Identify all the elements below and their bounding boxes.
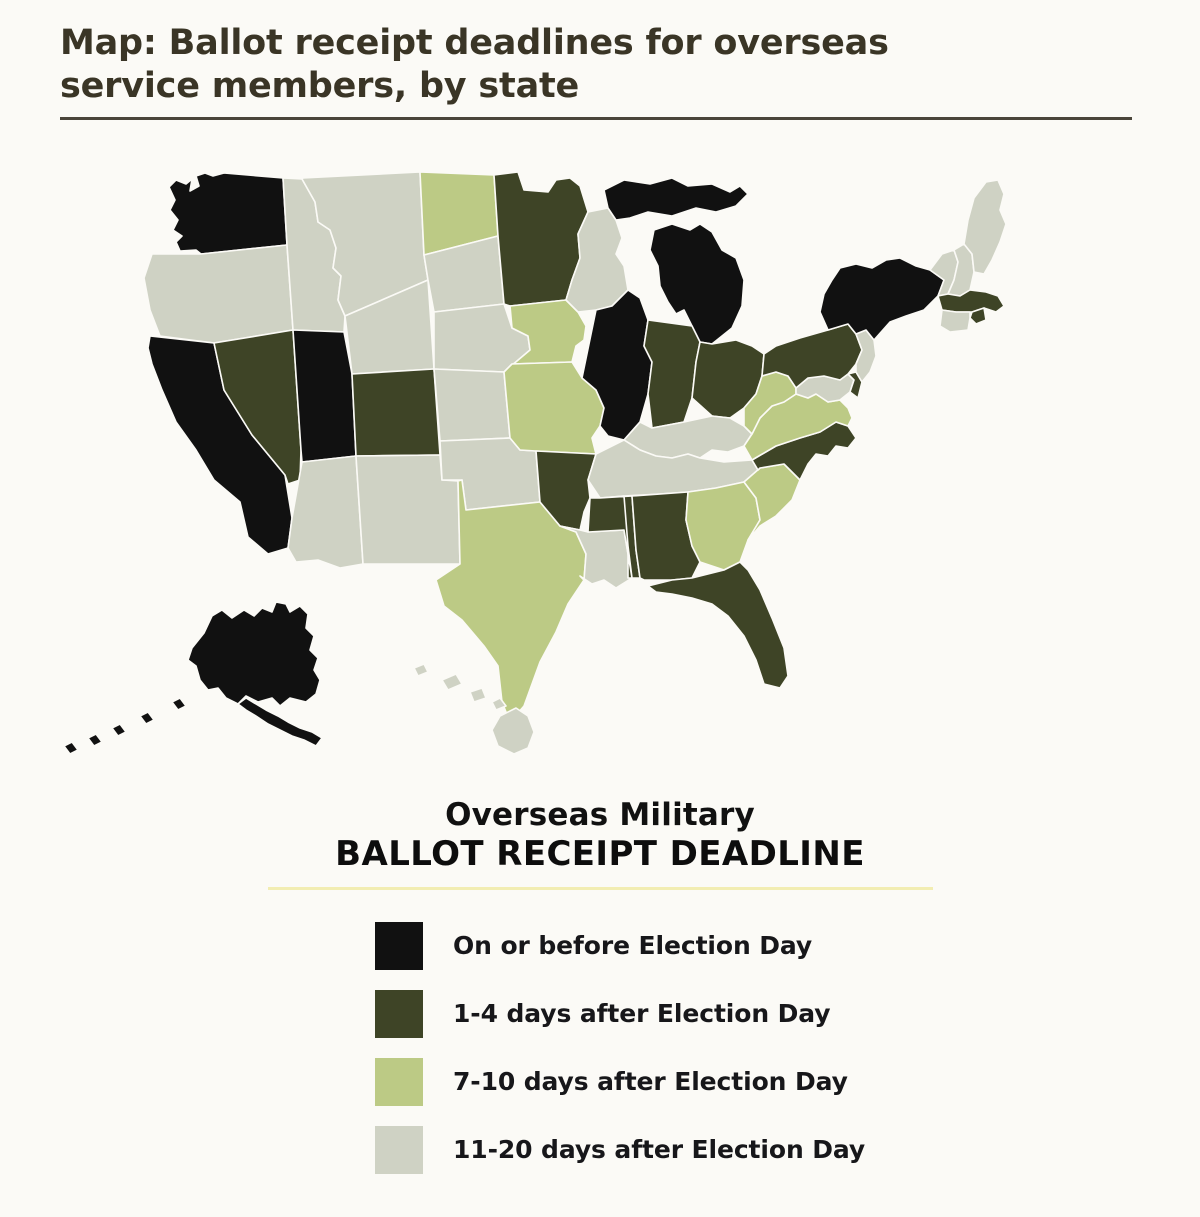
legend-item-label: On or before Election Day xyxy=(453,931,812,960)
state-FL[interactable] xyxy=(648,562,788,688)
state-AK[interactable] xyxy=(64,602,322,754)
legend-item[interactable]: On or before Election Day xyxy=(0,912,1200,980)
legend-color-swatch xyxy=(375,922,423,970)
us-map-svg xyxy=(0,150,1200,790)
legend-title-line-2: BALLOT RECEIPT DEADLINE xyxy=(0,835,1200,873)
state-GA[interactable] xyxy=(686,482,760,570)
legend-color-swatch xyxy=(375,1126,423,1174)
legend-color-swatch xyxy=(375,990,423,1038)
legend-item[interactable]: 1-4 days after Election Day xyxy=(0,980,1200,1048)
legend-color-swatch xyxy=(375,1058,423,1106)
map-legend: Overseas Military BALLOT RECEIPT DEADLIN… xyxy=(0,798,1200,1184)
state-CO[interactable] xyxy=(352,369,440,456)
legend-title-line-1: Overseas Military xyxy=(0,798,1200,833)
state-KS[interactable] xyxy=(434,369,510,441)
legend-item-list: On or before Election Day1-4 days after … xyxy=(0,912,1200,1184)
legend-divider xyxy=(268,887,933,890)
state-CT[interactable] xyxy=(940,310,970,332)
page-title: Map: Ballot receipt deadlines for overse… xyxy=(60,22,1135,107)
title-divider xyxy=(60,117,1132,120)
state-OR[interactable] xyxy=(144,245,293,343)
legend-item-label: 7-10 days after Election Day xyxy=(453,1067,848,1096)
legend-item[interactable]: 11-20 days after Election Day xyxy=(0,1116,1200,1184)
state-UT[interactable] xyxy=(293,330,356,462)
state-MA[interactable] xyxy=(938,290,1004,312)
title-block: Map: Ballot receipt deadlines for overse… xyxy=(60,22,1135,107)
state-WA[interactable] xyxy=(169,173,287,254)
legend-item-label: 1-4 days after Election Day xyxy=(453,999,831,1028)
us-choropleth-map xyxy=(0,150,1200,790)
legend-item-label: 11-20 days after Election Day xyxy=(453,1135,865,1164)
legend-heading: Overseas Military BALLOT RECEIPT DEADLIN… xyxy=(0,798,1200,873)
legend-item[interactable]: 7-10 days after Election Day xyxy=(0,1048,1200,1116)
state-IN[interactable] xyxy=(644,320,700,428)
